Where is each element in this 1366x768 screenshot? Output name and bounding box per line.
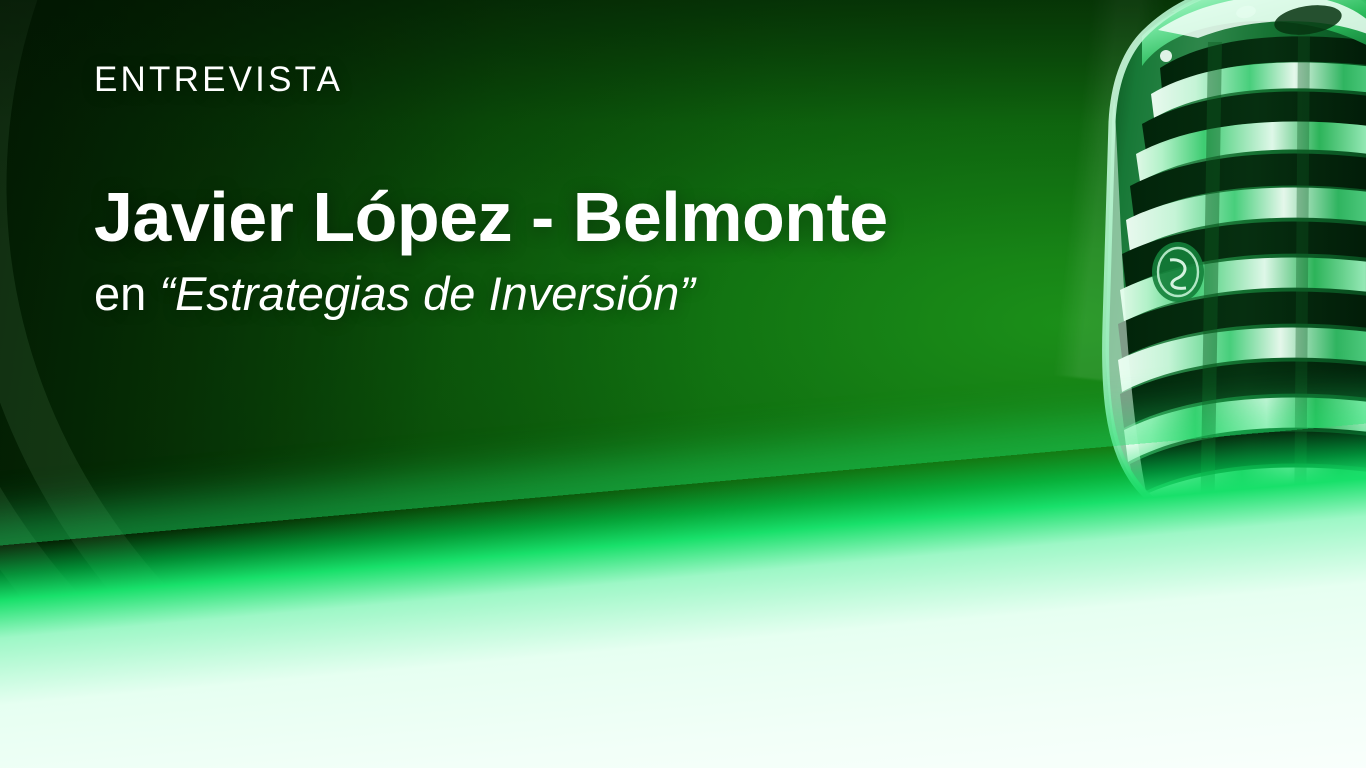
eyebrow-label: ENTREVISTA xyxy=(94,62,994,97)
subheadline-program-title: “Estrategias de Inversión” xyxy=(159,267,695,320)
headline-guest-name: Javier López - Belmonte xyxy=(94,181,994,254)
subheadline: en “Estrategias de Inversión” xyxy=(94,268,994,321)
banner-text-block: ENTREVISTA Javier López - Belmonte en “E… xyxy=(94,62,994,320)
subheadline-prefix: en xyxy=(94,267,159,320)
interview-banner: ENTREVISTA Javier López - Belmonte en “E… xyxy=(0,0,1366,768)
